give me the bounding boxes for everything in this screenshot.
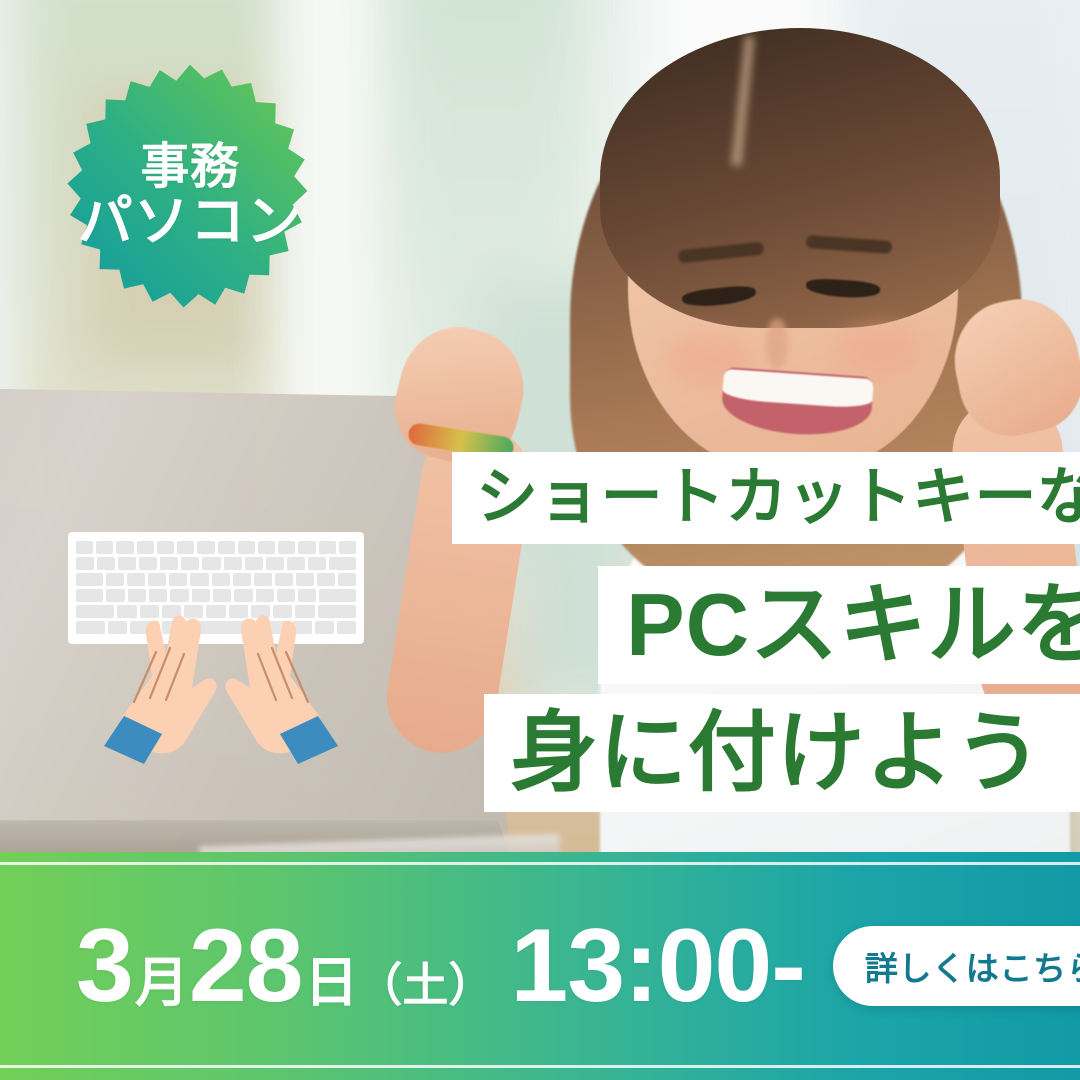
hands-on-keyboard-illustration <box>62 528 372 768</box>
banner-top-rule <box>0 862 1080 865</box>
event-day-number: 28 <box>189 914 303 1018</box>
event-month-number: 3 <box>76 914 133 1018</box>
banner-bottom-rule <box>0 1065 1080 1068</box>
nose <box>766 318 788 370</box>
event-datetime: 3 月 28 日 （土） 13:00- <box>76 914 805 1018</box>
event-info-banner: 3 月 28 日 （土） 13:00- 詳しくはこちら <box>0 852 1080 1080</box>
details-cta-label: 詳しくはこちら <box>865 942 1080 990</box>
headline-text-2: PCスキルを <box>626 581 1080 669</box>
details-cta-button[interactable]: 詳しくはこちら <box>833 926 1080 1006</box>
headline-band-2: PCスキルを <box>598 566 1080 684</box>
event-time: 13:00- <box>510 914 804 1018</box>
hair-top <box>600 28 1000 328</box>
badge-line-1: 事務 <box>140 143 239 192</box>
badge-text-group: 事務 パソコン <box>56 62 324 330</box>
event-weekday: （土） <box>356 962 494 1008</box>
event-day-unit: 日 <box>304 956 358 1010</box>
right-hand-icon <box>202 614 342 764</box>
event-month-unit: 月 <box>135 956 189 1010</box>
headline-text-3: 身に付けよう！ <box>510 709 1080 797</box>
cheek <box>836 326 922 376</box>
badge-line-2: パソコン <box>78 194 302 249</box>
promo-poster: 事務 パソコン ショートカットキーなど PCスキルを 身に付けよう！ 3 月 2… <box>0 0 1080 1080</box>
headline-band-1: ショートカットキーなど <box>452 452 1080 544</box>
headline-text-1: ショートカットキーなど <box>476 467 1080 529</box>
starburst-badge: 事務 パソコン <box>56 62 324 330</box>
headline-band-3: 身に付けよう！ <box>484 694 1080 812</box>
